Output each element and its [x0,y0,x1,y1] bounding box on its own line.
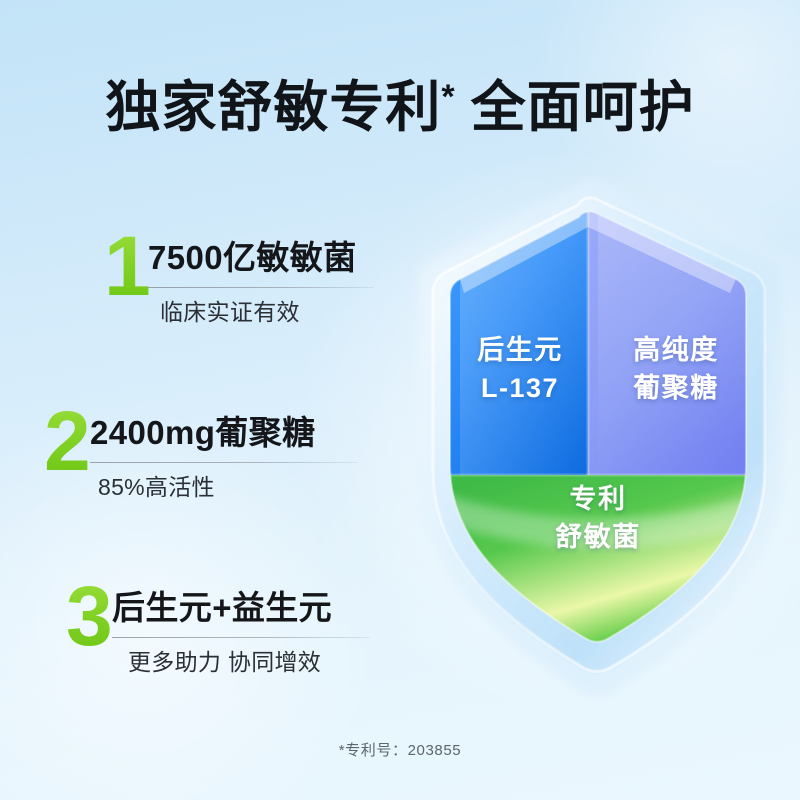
shield-label-postbiotic-line1: 后生元 [477,335,563,365]
promo-poster: 独家舒敏专利*全面呵护 [0,0,800,800]
feature-item: 1 7500亿敏敏菌 临床实证有效 [0,210,420,385]
feature-item: 2 2400mg葡聚糖 85%高活性 [0,385,420,560]
shield-label-glucan-line2: 葡聚糖 [633,372,719,403]
page-title: 独家舒敏专利*全面呵护 [0,64,800,140]
feature-divider [112,637,370,638]
feature-title: 7500亿敏敏菌 [148,238,374,278]
page-title-part1: 独家舒敏专利 [105,76,441,138]
feature-divider [90,462,358,463]
feature-title: 后生元+益生元 [112,588,370,628]
feature-number: 3 [66,574,113,658]
feature-divider [148,287,374,288]
shield-label-glucan-line1: 高纯度 [633,334,719,365]
patent-footnote: *专利号：203855 [0,739,800,760]
shield-label-patent-strain-line1: 专利 [570,484,627,514]
feature-number: 1 [104,224,151,308]
feature-list: 1 7500亿敏敏菌 临床实证有效 2 2400mg葡聚糖 85%高活性 3 后… [0,210,420,735]
asterisk-marker: * [441,78,454,116]
feature-subtitle: 临床实证有效 [160,297,374,327]
shield-label-patent-strain-line2: 舒敏菌 [555,521,641,552]
feature-subtitle: 85%高活性 [98,472,358,502]
feature-number: 2 [44,399,91,483]
shield-label-postbiotic-line2: L-137 [481,373,559,403]
feature-item: 3 后生元+益生元 更多助力 协同增效 [0,560,420,735]
page-title-part2: 全面呵护 [471,76,695,138]
feature-title: 2400mg葡聚糖 [90,413,358,453]
feature-subtitle: 更多助力 协同增效 [128,647,370,677]
shield-graphic: 后生元 L-137 高纯度 葡聚糖 专利 舒敏菌 [400,175,800,715]
